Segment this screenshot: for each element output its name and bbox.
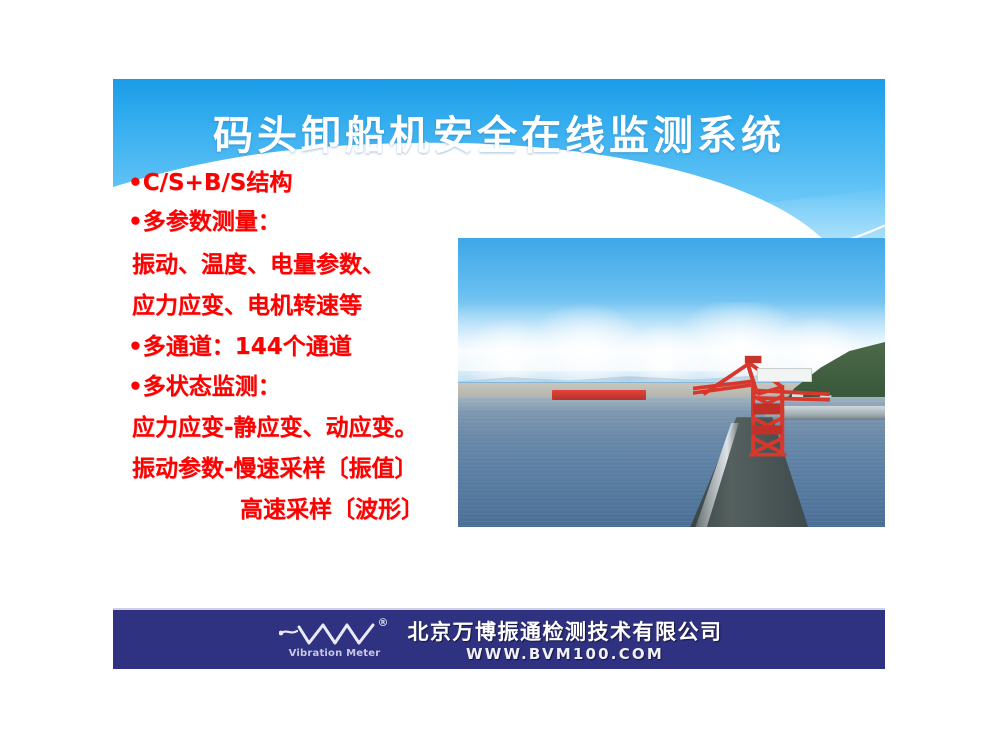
footer-bar: ® Vibration Meter 北京万博振通检测技术有限公司 WWW.BVM…	[113, 608, 885, 669]
bullet-detail-params-1: 振动、温度、电量参数、	[128, 250, 488, 291]
company-name: 北京万博振通检测技术有限公司	[408, 616, 723, 646]
bullet-detail-waveform: 高速采样〔波形〕	[128, 495, 488, 536]
ship-unloader-photo	[458, 238, 885, 527]
page-title: 码头卸船机安全在线监测系统	[113, 103, 885, 161]
bullet-detail-params-2: 应力应变、电机转速等	[128, 291, 488, 332]
bullet-item-channels: •多通道：144个通道	[128, 332, 488, 372]
photo-crane-sign	[757, 368, 813, 382]
registered-trademark-icon: ®	[378, 616, 389, 629]
slide-root: 码头卸船机安全在线监测系统 •C/S+B/S结构 •多参数测量： 振动、温度、电…	[0, 0, 1000, 750]
company-website[interactable]: WWW.BVM100.COM	[466, 645, 664, 663]
bullet-list: •C/S+B/S结构 •多参数测量： 振动、温度、电量参数、 应力应变、电机转速…	[128, 169, 488, 536]
bullet-item-multistate: •多状态监测：	[128, 372, 488, 413]
vibration-wave-icon: ®	[279, 621, 391, 647]
bullet-item-multiparam: •多参数测量：	[128, 207, 488, 250]
presentation-slide: 码头卸船机安全在线监测系统 •C/S+B/S结构 •多参数测量： 振动、温度、电…	[113, 79, 885, 669]
footer-company-block: 北京万博振通检测技术有限公司 WWW.BVM100.COM	[408, 616, 723, 663]
bullet-item-architecture: •C/S+B/S结构	[128, 169, 488, 207]
logo-tagline: Vibration Meter	[289, 648, 381, 659]
bullet-detail-vibration: 振动参数-慢速采样〔振值〕	[128, 454, 488, 495]
bullet-detail-strain: 应力应变-静应变、动应变。	[128, 413, 488, 454]
photo-red-barge	[552, 390, 646, 400]
company-logo: ® Vibration Meter	[276, 621, 394, 659]
